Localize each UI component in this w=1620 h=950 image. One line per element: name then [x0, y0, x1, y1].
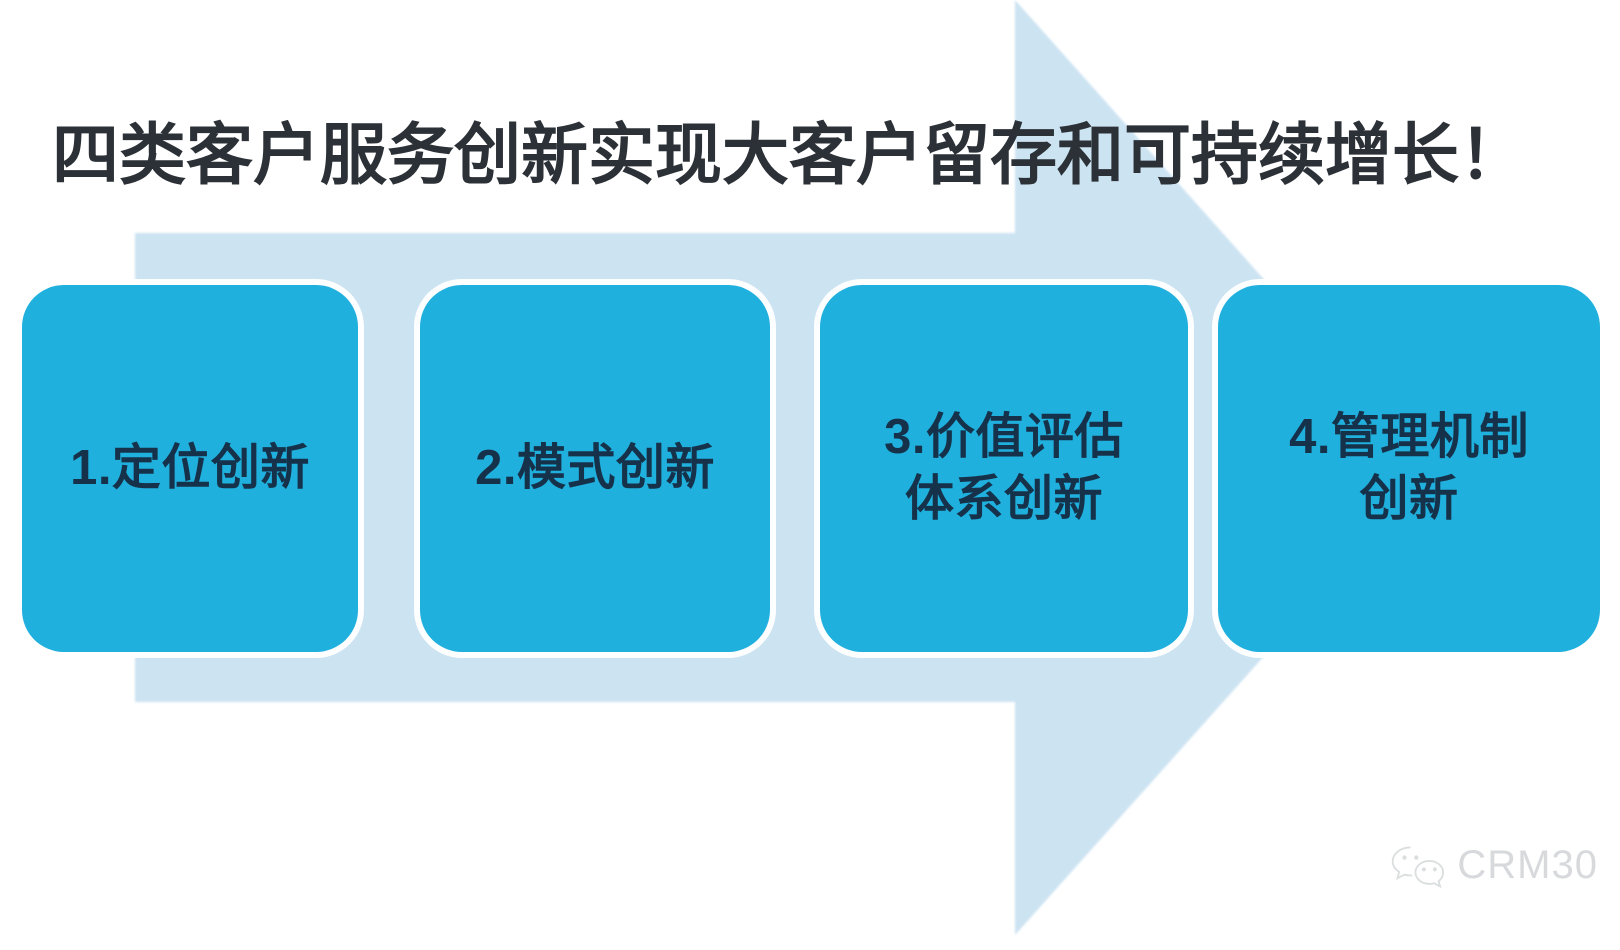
page-title: 四类客户服务创新实现大客户留存和可持续增长！ [52, 108, 1552, 204]
step-box-2[interactable]: 2.模式创新 [420, 285, 770, 652]
step-box-4[interactable]: 4.管理机制 创新 [1218, 285, 1600, 652]
step-box-2-label: 2.模式创新 [465, 438, 725, 499]
step-box-1[interactable]: 1.定位创新 [22, 285, 358, 652]
step-box-1-label: 1.定位创新 [60, 438, 320, 499]
wechat-icon [1391, 844, 1445, 888]
watermark-text: CRM30 [1457, 843, 1598, 888]
slide-canvas: 四类客户服务创新实现大客户留存和可持续增长！ 1.定位创新 2.模式创新 3.价… [0, 0, 1620, 950]
step-box-3-label: 3.价值评估 体系创新 [874, 407, 1134, 530]
step-box-3[interactable]: 3.价值评估 体系创新 [820, 285, 1188, 652]
watermark: CRM30 [1391, 843, 1598, 888]
step-box-4-label: 4.管理机制 创新 [1279, 407, 1539, 530]
